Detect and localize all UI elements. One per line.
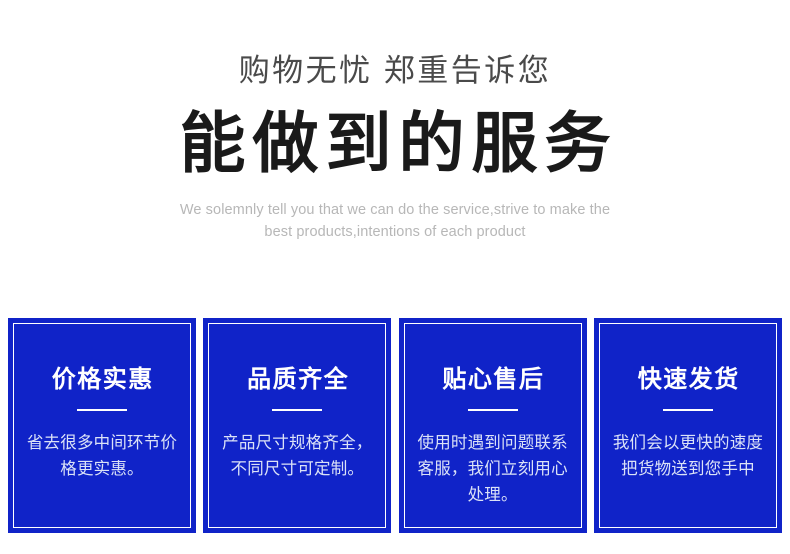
card-divider: [663, 409, 713, 411]
card-title: 贴心售后: [441, 367, 545, 393]
banner-subcopy-line-1: We solemnly tell you that we can do the …: [0, 199, 790, 221]
card-body-text: 产品尺寸规格齐全，不同尺寸可定制。: [218, 430, 376, 482]
card-body-text: 我们会以更快的速度把货物送到您手中: [609, 430, 767, 482]
card-divider: [272, 409, 322, 411]
service-promo-banner: 购物无忧 郑重告诉您 能做到的服务 We solemnly tell you t…: [0, 0, 790, 554]
card-content: 快速发货 我们会以更快的速度把货物送到您手中: [594, 318, 782, 533]
banner-headline: 能做到的服务: [0, 89, 790, 179]
service-card-price[interactable]: 价格实惠 省去很多中间环节价格更实惠。: [8, 318, 196, 533]
card-divider: [468, 409, 518, 411]
banner-subcopy: We solemnly tell you that we can do the …: [0, 179, 790, 243]
card-title: 品质齐全: [246, 367, 350, 393]
banner-header: 购物无忧 郑重告诉您 能做到的服务 We solemnly tell you t…: [0, 0, 790, 243]
card-content: 价格实惠 省去很多中间环节价格更实惠。: [8, 318, 196, 533]
card-content: 品质齐全 产品尺寸规格齐全，不同尺寸可定制。: [203, 318, 391, 533]
service-card-after-sales[interactable]: 贴心售后 使用时遇到问题联系客服，我们立刻用心处理。: [399, 318, 587, 533]
service-card-fast-shipping[interactable]: 快速发货 我们会以更快的速度把货物送到您手中: [594, 318, 782, 533]
service-card-list: 价格实惠 省去很多中间环节价格更实惠。 品质齐全 产品尺寸规格齐全，不同尺寸可定…: [8, 318, 782, 533]
card-content: 贴心售后 使用时遇到问题联系客服，我们立刻用心处理。: [399, 318, 587, 533]
card-title: 快速发货: [636, 367, 740, 393]
card-body-text: 省去很多中间环节价格更实惠。: [23, 430, 181, 482]
service-card-quality[interactable]: 品质齐全 产品尺寸规格齐全，不同尺寸可定制。: [203, 318, 391, 533]
banner-subcopy-line-2: best products,intentions of each product: [0, 221, 790, 243]
card-title: 价格实惠: [50, 367, 154, 393]
banner-eyebrow: 购物无忧 郑重告诉您: [0, 0, 790, 89]
card-divider: [77, 409, 127, 411]
card-body-text: 使用时遇到问题联系客服，我们立刻用心处理。: [414, 430, 572, 508]
